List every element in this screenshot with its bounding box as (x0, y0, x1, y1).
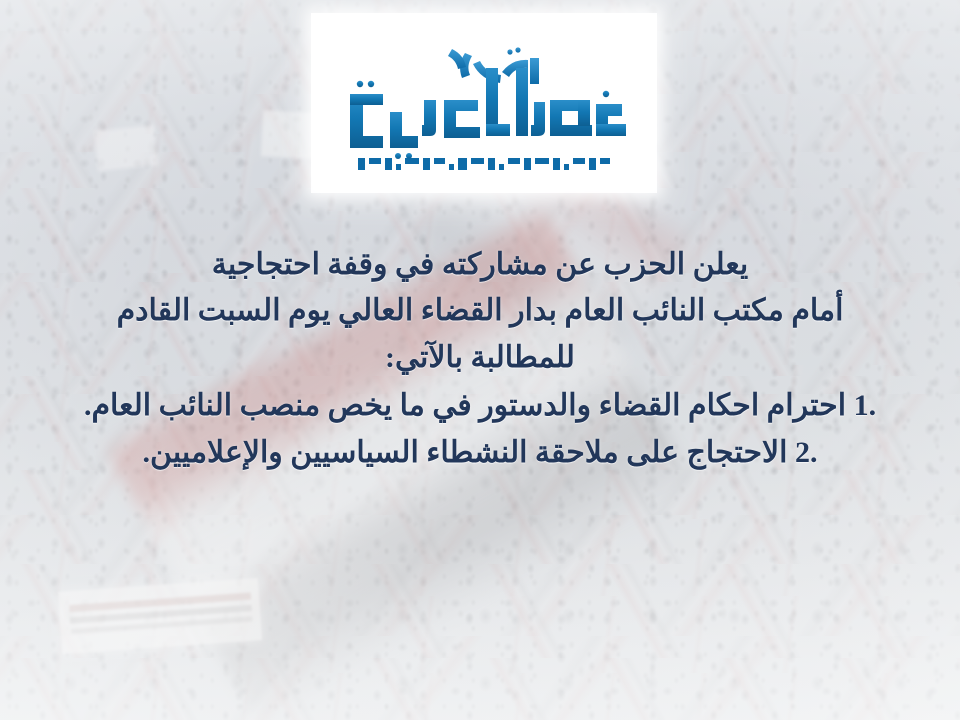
logo-wordmark-text: مصر الحرية (633, 178, 634, 179)
announcement-line-3: للمطالبة بالآتي: (26, 336, 934, 380)
logo-word-party-text: حزب (633, 178, 634, 179)
demands-list: 1. احترام احكام القضاء والدستور في ما يخ… (26, 384, 934, 475)
party-logo: حزب مصر الحرية حق.مساواه.ديمقراطيه (334, 28, 634, 178)
list-item: 1. احترام احكام القضاء والدستور في ما يخ… (26, 384, 934, 428)
demand-text: احترام احكام القضاء والدستور في ما يخص م… (84, 389, 846, 422)
demand-number: 2. (795, 436, 818, 469)
background-protest-banner-text (69, 588, 254, 645)
party-logo-card: حزب مصر الحرية حق.مساواه.ديمقراطيه (316, 18, 652, 188)
background-protest-banner (58, 578, 262, 654)
announcement-body: يعلن الحزب عن مشاركته في وقفة احتجاجية أ… (0, 243, 960, 478)
background-protest-placard-2 (94, 125, 158, 171)
logo-wordmark-glyphs (350, 68, 626, 159)
list-item: 2. الاحتجاج على ملاحقة النشطاء السياسيين… (26, 431, 934, 475)
announcement-line-1: يعلن الحزب عن مشاركته في وقفة احتجاجية (26, 243, 934, 287)
logo-tagline-glyphs (358, 158, 610, 170)
logo-tagline-text: حق.مساواه.ديمقراطيه (633, 178, 634, 179)
demand-text: الاحتجاج على ملاحقة النشطاء السياسيين وا… (143, 436, 788, 469)
party-logo-artwork (334, 28, 634, 178)
announcement-line-2: أمام مكتب النائب العام بدار القضاء العال… (26, 289, 934, 333)
announcement-poster: حزب مصر الحرية حق.مساواه.ديمقراطيه يعلن … (0, 0, 960, 720)
demand-number: 1. (854, 389, 877, 422)
